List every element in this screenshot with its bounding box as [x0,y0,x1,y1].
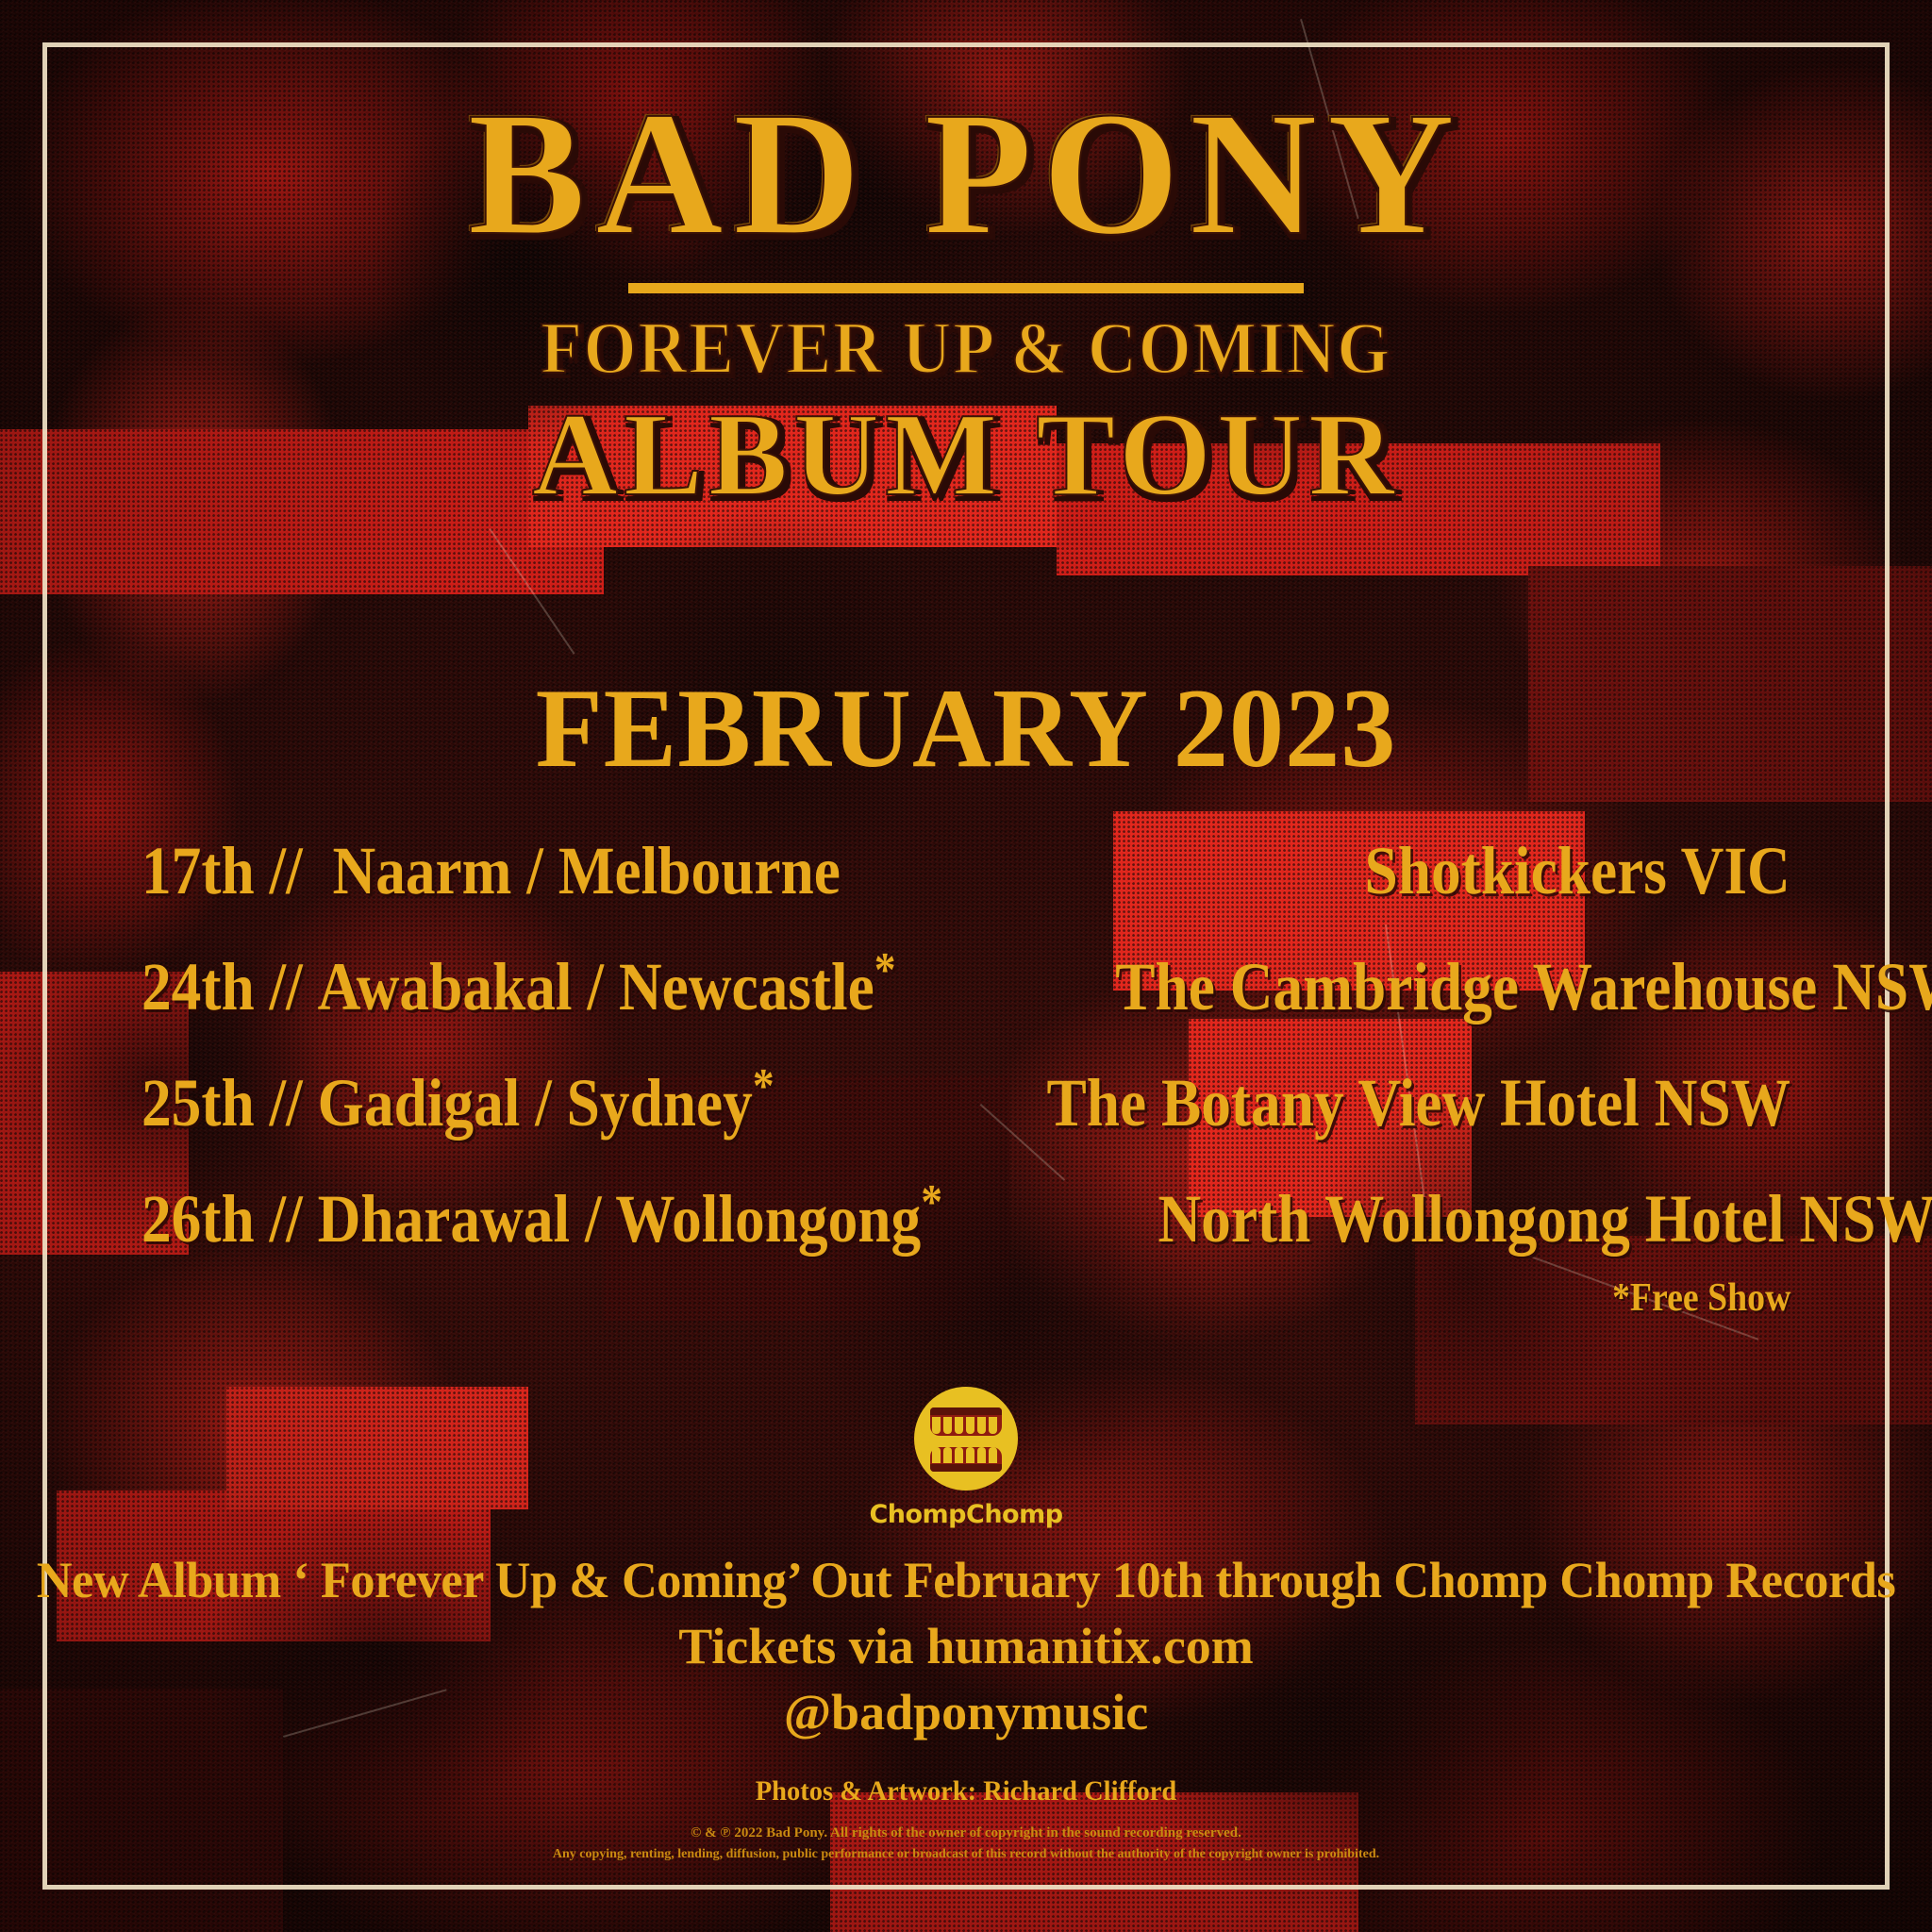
album-subtitle: FOREVER UP & COMING [77,311,1855,385]
social-handle-line: @badponymusic [0,1679,1932,1745]
date-city-3: 26th // Dharawal / Wollongong* [142,1178,942,1253]
date-separator-3: // [270,1181,303,1257]
date-place-0: Naarm / Melbourne [332,833,840,908]
date-place-2: Gadigal / Sydney [318,1065,753,1141]
free-show-note: *Free Show [1612,1275,1790,1321]
date-venue-1: The Cambridge Warehouse NSW [1115,953,1932,1021]
date-city-2: 25th // Gadigal / Sydney* [142,1062,774,1137]
poster-content: BAD PONY FOREVER UP & COMING ALBUM TOUR … [0,0,1932,1932]
chompchomp-logo: ChompChomp [862,1387,1070,1529]
band-name-title: BAD PONY [0,85,1932,262]
date-separator-2: // [270,1065,303,1141]
date-separator-0: // [270,833,303,908]
date-venue-2: The Botany View Hotel NSW [1046,1069,1790,1137]
tour-poster: BAD PONY FOREVER UP & COMING ALBUM TOUR … [0,0,1932,1932]
table-row: 25th // Gadigal / Sydney* The Botany Vie… [142,1062,1790,1178]
table-row: 17th // Naarm / Melbourne Shotkickers VI… [142,830,1790,946]
table-row: 26th // Dharawal / Wollongong* North Wol… [142,1178,1790,1294]
date-star-2: * [753,1059,774,1113]
title-underline-rule [628,283,1304,293]
date-place-1: Awabakal / Newcastle [318,949,874,1024]
tour-month-year: FEBRUARY 2023 [29,672,1904,785]
tickets-line: Tickets via humanitix.com [0,1613,1932,1679]
date-day-0: 17th [142,833,255,908]
date-venue-3: North Wollongong Hotel NSW [1158,1185,1932,1253]
date-star-3: * [921,1175,942,1229]
date-day-1: 24th [142,949,255,1024]
release-info: New Album ‘ Forever Up & Coming’ Out Feb… [0,1547,1932,1746]
artwork-credit: Photos & Artwork: Richard Clifford [48,1775,1884,1807]
date-venue-0: Shotkickers VIC [1365,837,1790,905]
album-release-line: New Album ‘ Forever Up & Coming’ Out Feb… [29,1547,1904,1613]
date-day-2: 25th [142,1065,255,1141]
date-star-1: * [874,943,896,997]
chompchomp-label: ChompChomp [862,1500,1070,1529]
date-city-1: 24th // Awabakal / Newcastle* [142,946,896,1021]
legal-line-2: Any copying, renting, lending, diffusion… [0,1844,1932,1865]
tour-dates-list: 17th // Naarm / Melbourne Shotkickers VI… [142,830,1790,1294]
chattering-teeth-icon [914,1387,1018,1491]
table-row: 24th // Awabakal / Newcastle* The Cambri… [142,946,1790,1062]
date-separator-1: // [270,949,303,1024]
legal-line-1: © & ℗ 2022 Bad Pony. All rights of the o… [0,1823,1932,1844]
date-place-3: Dharawal / Wollongong [318,1181,922,1257]
date-city-0: 17th // Naarm / Melbourne [142,830,841,905]
date-day-3: 26th [142,1181,255,1257]
album-tour-heading: ALBUM TOUR [0,396,1932,515]
legal-fine-print: © & ℗ 2022 Bad Pony. All rights of the o… [0,1823,1932,1865]
